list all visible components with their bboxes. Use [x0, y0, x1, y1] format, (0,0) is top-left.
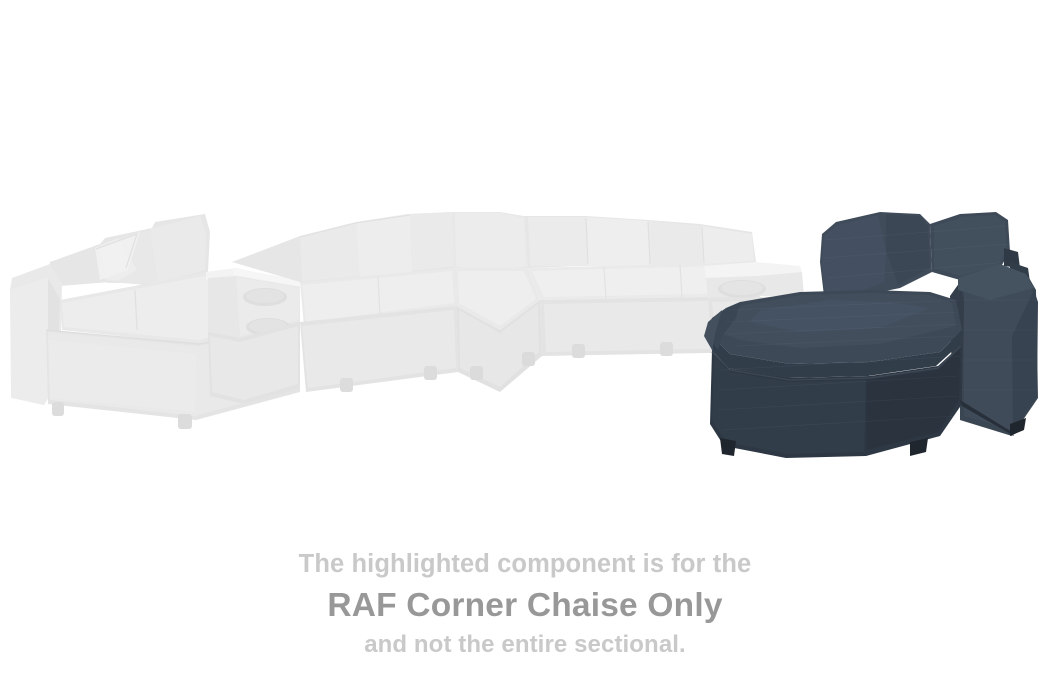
caption-line-2-component-name: RAF Corner Chaise Only — [0, 584, 1050, 628]
caption-line-3: and not the entire sectional. — [0, 630, 1050, 661]
sofa-svg — [0, 0, 1050, 530]
caption-block: The highlighted component is for the RAF… — [0, 548, 1050, 661]
sectional-sofa-illustration — [0, 0, 1050, 530]
chaise-foot-left — [720, 438, 736, 456]
caption-line-1: The highlighted component is for the — [0, 548, 1050, 581]
faded-sectional-group — [10, 212, 806, 429]
piece-console-with-cupholders — [206, 268, 300, 404]
product-image-stage: The highlighted component is for the RAF… — [0, 0, 1050, 700]
